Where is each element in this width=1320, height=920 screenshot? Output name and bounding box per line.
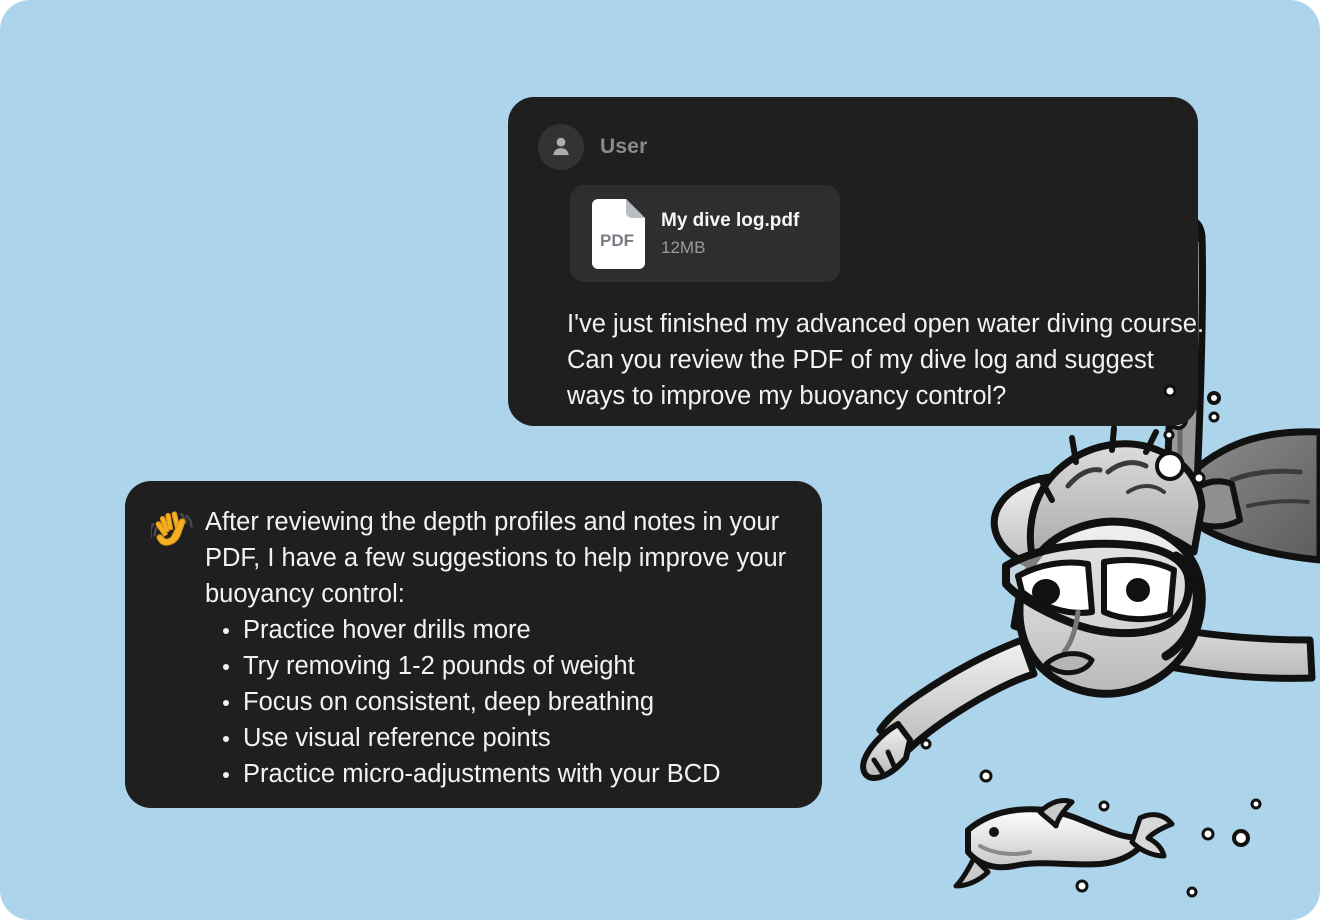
- attachment-card[interactable]: PDF My dive log.pdf 12MB: [570, 185, 840, 282]
- pdf-file-icon: PDF: [588, 199, 645, 269]
- person-icon: [538, 124, 584, 170]
- assistant-intro-text: After reviewing the depth profiles and n…: [205, 504, 796, 612]
- svg-text:PDF: PDF: [600, 231, 634, 250]
- page-root: User PDF My dive log.pdf 12MB I've just …: [0, 0, 1320, 920]
- file-size: 12MB: [661, 238, 799, 258]
- chat-conversation: User PDF My dive log.pdf 12MB I've just …: [0, 0, 1320, 920]
- suggestions-list: Practice hover drills more Try removing …: [205, 612, 796, 792]
- waving-hand-emoji: [151, 504, 193, 792]
- user-header: User: [538, 123, 1168, 171]
- user-message-text: I've just finished my advanced open wate…: [567, 306, 1207, 414]
- list-item: Try removing 1-2 pounds of weight: [243, 648, 796, 684]
- list-item: Practice hover drills more: [243, 612, 796, 648]
- list-item: Use visual reference points: [243, 720, 796, 756]
- list-item: Practice micro-adjustments with your BCD: [243, 756, 796, 792]
- list-item: Focus on consistent, deep breathing: [243, 684, 796, 720]
- file-name: My dive log.pdf: [661, 210, 799, 232]
- file-meta: My dive log.pdf 12MB: [661, 210, 799, 258]
- assistant-message-bubble: After reviewing the depth profiles and n…: [125, 481, 822, 808]
- sender-name: User: [600, 135, 648, 159]
- assistant-body: After reviewing the depth profiles and n…: [205, 504, 796, 792]
- user-message-bubble: User PDF My dive log.pdf 12MB I've just …: [508, 97, 1198, 426]
